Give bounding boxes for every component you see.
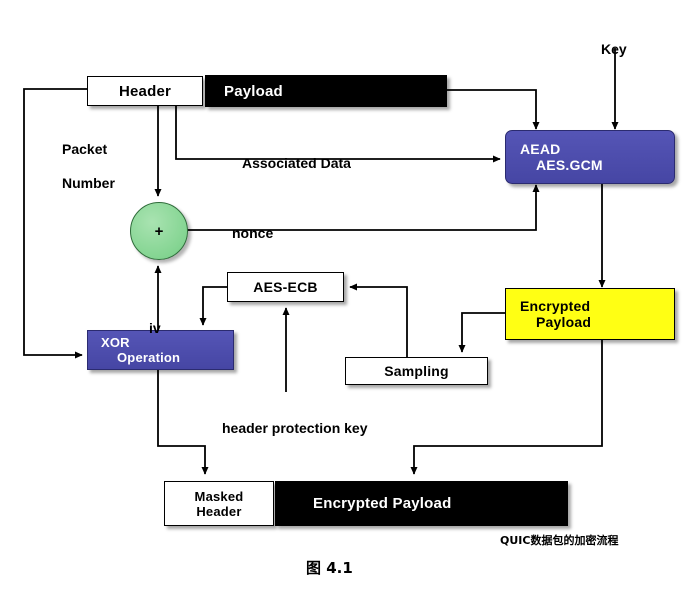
- label-packet-number-line1: Packet: [62, 141, 115, 158]
- node-aes-ecb[interactable]: AES-ECB: [227, 272, 344, 302]
- node-aead-line2: AES.GCM: [520, 157, 603, 173]
- wire-sampling-to-aesecb: [350, 287, 407, 357]
- node-sampling[interactable]: Sampling: [345, 357, 488, 385]
- node-masked-header-text: Masked Header: [195, 489, 244, 519]
- node-aead-text: AEAD AES.GCM: [520, 141, 603, 173]
- node-encrypted-payload-yellow[interactable]: Encrypted Payload: [505, 288, 675, 340]
- label-associated-data: Associated Data: [242, 138, 351, 172]
- label-associated-data-text: Associated Data: [242, 155, 351, 171]
- node-encrypted-payload-yellow-line2: Payload: [520, 314, 591, 330]
- figure-caption-cn: QUIC数据包的加密流程: [500, 532, 618, 548]
- node-encrypted-payload-yellow-text: Encrypted Payload: [520, 298, 591, 330]
- node-masked-header-line2: Header: [195, 504, 244, 519]
- label-nonce-text: nonce: [232, 225, 273, 241]
- node-xor-line1: XOR: [101, 335, 180, 350]
- node-encrypted-payload-black[interactable]: Encrypted Payload: [275, 481, 568, 526]
- node-sampling-label: Sampling: [384, 363, 449, 379]
- figure-number: 图 4.1: [306, 557, 353, 578]
- node-xor-text: XOR Operation: [101, 335, 180, 365]
- label-key: Key: [601, 24, 627, 58]
- figure-number-text: 图 4.1: [306, 559, 353, 577]
- node-plus-label: +: [155, 223, 164, 240]
- label-iv-text: iv: [149, 320, 161, 336]
- label-iv: iv: [149, 303, 161, 337]
- label-nonce: nonce: [232, 208, 273, 242]
- label-header-protection-key-text: header protection key: [222, 420, 368, 436]
- wire-aesecb-to-xor: [203, 287, 227, 325]
- node-masked-header[interactable]: Masked Header: [164, 481, 274, 526]
- wire-encrypted-payload-to-sampling: [462, 313, 505, 352]
- diagram-canvas: Header Payload AEAD AES.GCM Encrypted Pa…: [0, 0, 700, 602]
- node-xor-line2: Operation: [101, 350, 180, 365]
- node-aes-ecb-label: AES-ECB: [253, 279, 317, 295]
- wire-payload-to-aead: [447, 90, 536, 129]
- label-header-protection-key: header protection key: [222, 403, 368, 437]
- label-packet-number-line2: Number: [62, 175, 115, 192]
- wire-xor-to-masked-header: [158, 370, 205, 474]
- node-encrypted-payload-black-label: Encrypted Payload: [313, 495, 451, 512]
- node-header-label: Header: [119, 83, 171, 100]
- label-packet-number: Packet Number: [62, 124, 115, 209]
- node-payload-label: Payload: [224, 83, 283, 100]
- label-key-text: Key: [601, 41, 627, 57]
- node-masked-header-line1: Masked: [195, 489, 244, 504]
- node-payload[interactable]: Payload: [205, 75, 447, 107]
- node-encrypted-payload-yellow-line1: Encrypted: [520, 298, 591, 314]
- node-xor-plus-circle[interactable]: +: [130, 202, 188, 260]
- figure-caption-cn-text: QUIC数据包的加密流程: [500, 534, 618, 547]
- node-header[interactable]: Header: [87, 76, 203, 106]
- node-aead[interactable]: AEAD AES.GCM: [505, 130, 675, 184]
- node-aead-line1: AEAD: [520, 141, 603, 157]
